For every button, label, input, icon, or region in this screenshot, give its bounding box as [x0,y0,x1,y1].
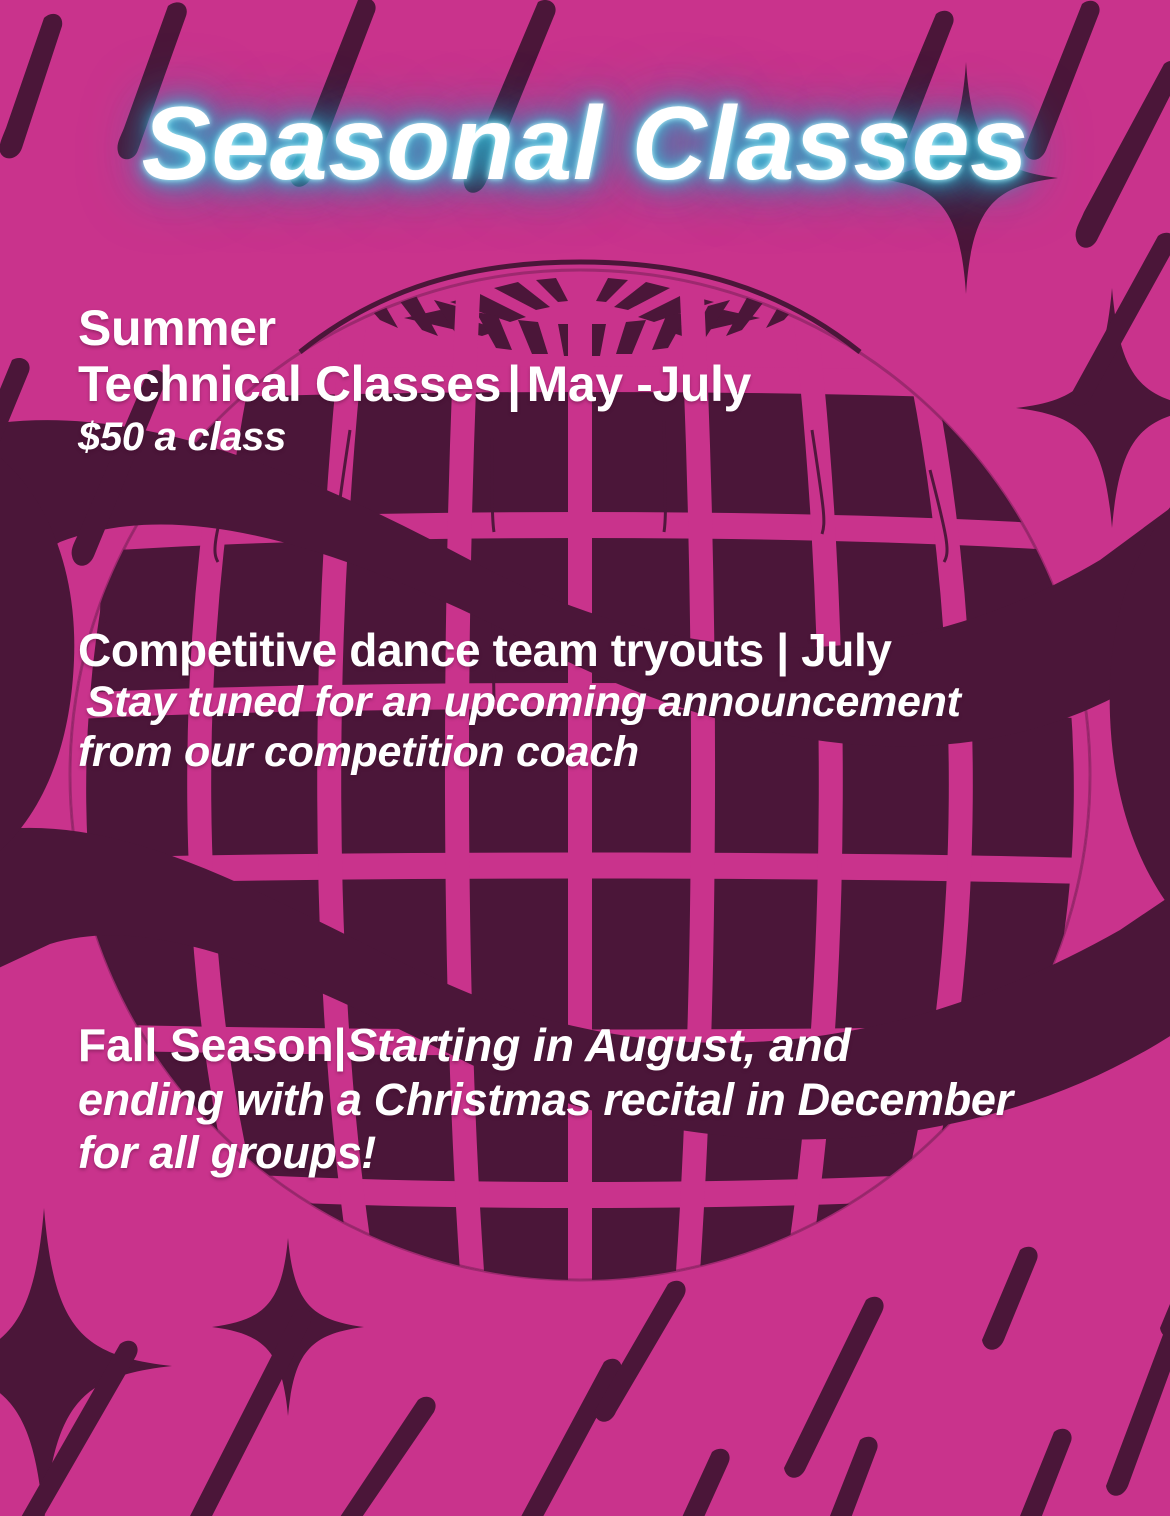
summer-price: $50 a class [78,414,1110,461]
summer-heading-right: May -July [527,356,751,412]
section-tryouts: Competitive dance team tryouts | July St… [78,625,1110,778]
summer-heading-line1: Summer [78,300,1110,356]
summer-heading-left: Technical Classes [78,356,501,412]
tryouts-heading: Competitive dance team tryouts | July [78,625,1110,677]
seasonal-classes-poster: Seasonal Classes Summer Technical Classe… [0,0,1170,1516]
page-title: Seasonal Classes [0,92,1170,196]
fall-detail-line2: ending with a Christmas recital in Decem… [78,1073,1110,1126]
summer-heading-line2: Technical Classes|May -July [78,356,1110,412]
section-summer: Summer Technical Classes|May -July $50 a… [78,300,1110,461]
summer-heading-separator: | [501,356,527,412]
fall-heading: Fall Season [78,1019,334,1071]
section-fall: Fall Season|Starting in August, and endi… [78,1018,1110,1179]
fall-detail-line1: Starting in August, and [347,1019,851,1071]
fall-heading-row: Fall Season|Starting in August, and [78,1018,1110,1073]
fall-separator: | [334,1019,347,1071]
tryouts-detail-line2: from our competition coach [78,727,1110,778]
fall-detail-line3: for all groups! [78,1126,1110,1179]
tryouts-detail-line1: Stay tuned for an upcoming announcement [86,677,1110,728]
